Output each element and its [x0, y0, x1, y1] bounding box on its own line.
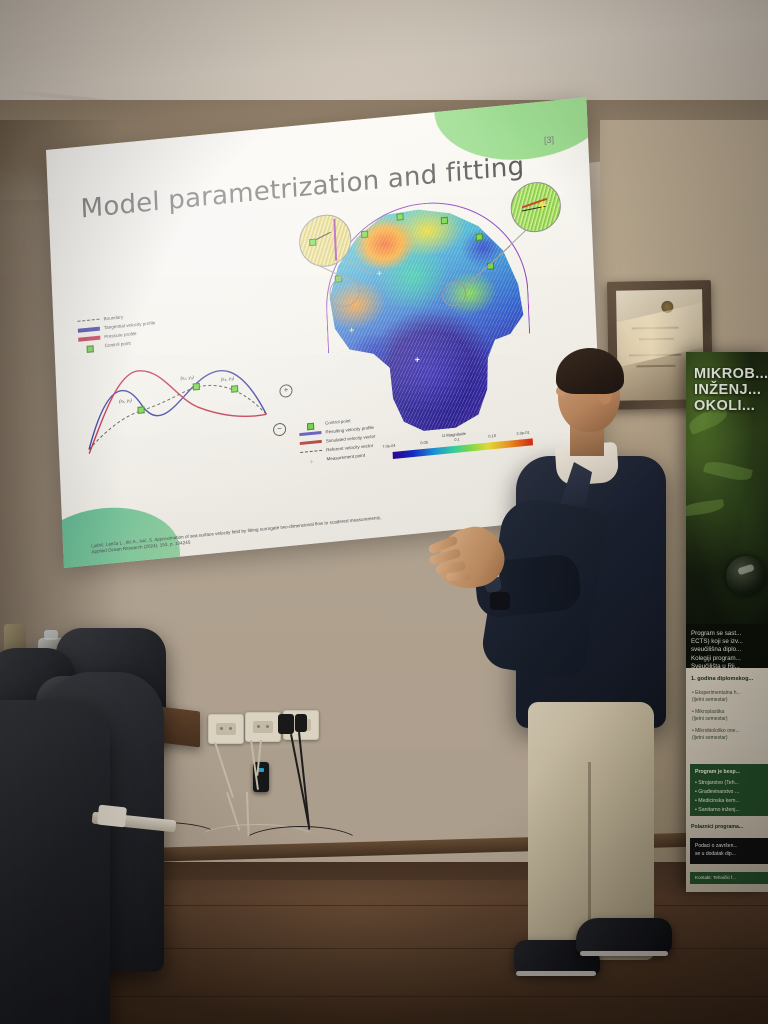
shoe-sole [580, 951, 668, 956]
shoe-sole [516, 971, 596, 976]
power-strip-block [97, 805, 127, 828]
simulated-vector-line-icon [300, 440, 322, 445]
banner-greenbox-line: • Građevinarstvo ... [695, 789, 739, 795]
control-point-marker [441, 217, 448, 225]
control-point-marker [137, 406, 144, 414]
banner-title-line-3: OKOLI... [694, 398, 768, 414]
magnifier-callout-right: + [510, 180, 562, 235]
banner-title-line-1: MIKROB... [694, 366, 768, 382]
pressure-curve [86, 359, 267, 454]
banner-title-line-2: INŽENJ... [694, 382, 768, 398]
conference-room-photo: MIKROB... INŽENJ... OKOLI... Program se … [0, 0, 768, 1024]
socket-pin [220, 727, 223, 730]
colorbar-tick: 7.0e-04 [382, 443, 395, 449]
shoe-right [576, 918, 672, 954]
wall-socket-2[interactable] [245, 712, 281, 742]
parametrization-figure: Boundary Tangential velocity profile Pre… [75, 293, 312, 475]
banner-dark-box: Podaci o završen... se u dodatak dip... [690, 838, 768, 864]
presentation-clicker [490, 592, 510, 610]
armchair-front [0, 700, 110, 1024]
cfd-legend: Control point Resulting velocity profile… [299, 414, 377, 466]
banner-body-line: Kolegiji program... [691, 655, 768, 663]
slide-decor-blob-bottom-left [46, 501, 182, 568]
measurement-point-cross: + [413, 355, 422, 365]
banner-greenbox-line: • Strojarstvo (Teh... [695, 780, 739, 786]
banner-darkbox-line: Podaci o završen... [695, 843, 738, 849]
control-point-marker [231, 385, 238, 393]
measurement-point-cross: + [375, 269, 384, 279]
referent-vector-line-icon [300, 450, 322, 453]
control-point-marker [193, 383, 200, 391]
hair [556, 348, 624, 394]
control-point-marker [309, 239, 316, 247]
resulting-profile-line-icon [299, 431, 321, 436]
banner-body-text: Program se sast... ECTS) koji se izv... … [691, 630, 768, 671]
control-point-marker-icon [299, 422, 321, 428]
banner-darkbox-line: se u dodatak dip... [695, 851, 736, 857]
control-point-marker [476, 233, 483, 241]
banner-greenbox-line: • Sanitarno inženj... [695, 807, 740, 813]
banner-contact-text: Kontakt: Tehnički f... [695, 875, 736, 880]
wall-socket-1[interactable] [208, 714, 244, 744]
measurement-point-cross: + [537, 198, 546, 208]
presenter [470, 352, 700, 1024]
banner-greenbox-line: • Medicinska kem... [695, 798, 740, 804]
control-point-marker [396, 213, 403, 221]
socket-hole [216, 723, 236, 735]
banner-body-line: Program se sast... [691, 630, 768, 638]
banner-lens-graphic [726, 556, 766, 596]
control-point-marker [361, 231, 368, 239]
colorbar-tick: 0.05 [420, 440, 428, 446]
boundary-curve [87, 380, 267, 450]
socket-pin [229, 727, 232, 730]
profile-bar-icon [333, 219, 336, 261]
banner-greenbox-heading: Program je besp... [695, 769, 740, 775]
cable-loop [240, 826, 362, 864]
banner-contact-bar: Kontakt: Tehnički f... [690, 872, 768, 884]
measurement-cross-icon: + [300, 457, 322, 463]
leaf-icon [703, 458, 753, 483]
plug-inserted [278, 714, 294, 734]
tangential-curve [86, 366, 267, 449]
banner-title: MIKROB... INŽENJ... OKOLI... [694, 366, 768, 414]
measurement-point-cross: + [347, 326, 356, 336]
plug-inserted [295, 714, 307, 732]
socket-pin [257, 725, 260, 728]
socket-hole [253, 721, 273, 733]
banner-body-line: sveučilišna diplo... [691, 646, 768, 654]
banner-section-heading: 1. godina diplomskog... [691, 676, 753, 682]
banner-body-line: ECTS) koji se izv... [691, 638, 768, 646]
legend-label: Measurement point [326, 453, 365, 462]
slide-citation-tag: [3] [544, 134, 554, 145]
finger [446, 572, 470, 581]
banner-green-box: Program je besp... • Strojarstvo (Teh...… [690, 764, 768, 816]
colorbar-tick: 0.1 [454, 436, 460, 442]
socket-pin [266, 725, 269, 728]
